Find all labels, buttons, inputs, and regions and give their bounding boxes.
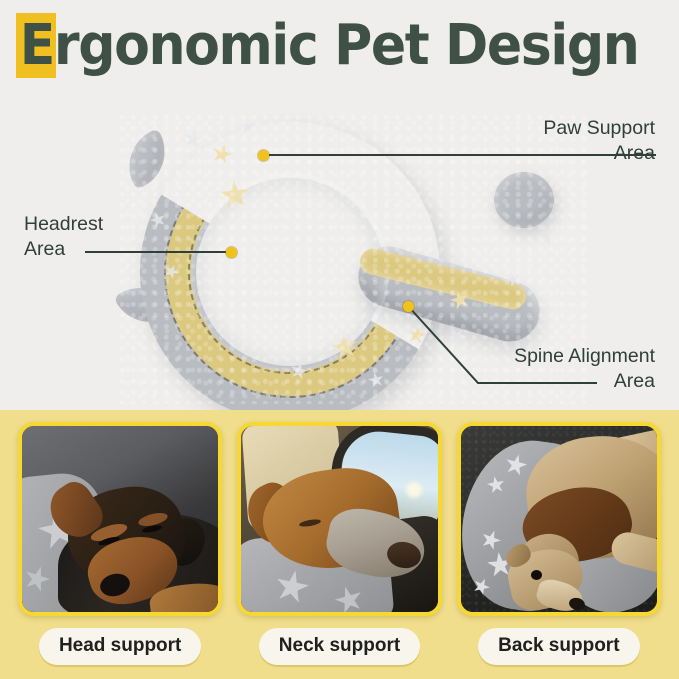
caption-cell-head-support: Head support [18, 626, 222, 666]
callout-paw-support: Paw Support Area [543, 116, 655, 166]
caption-pill-neck-support: Neck support [259, 628, 420, 665]
photo-gallery [18, 422, 661, 616]
callout-spine-alignment: Spine Alignment Area [514, 344, 655, 394]
callout-paw-support-line2: Area [543, 141, 655, 166]
title-highlight-letter: E [16, 13, 56, 78]
photo-card-head-support[interactable] [18, 422, 222, 616]
callout-headrest-line1: Headrest [24, 212, 103, 237]
caption-row: Head support Neck support Back support [18, 626, 661, 666]
infographic-root: Ergonomic Pet Design [0, 0, 679, 679]
photo-card-back-support[interactable] [457, 422, 661, 616]
header-band: Ergonomic Pet Design [0, 0, 679, 92]
pillow-ear-top [116, 128, 178, 190]
caption-cell-back-support: Back support [457, 626, 661, 666]
star-motif [183, 129, 204, 150]
benefits-section: Head support Neck support Back support [0, 410, 679, 679]
callout-headrest: Headrest Area [24, 212, 103, 262]
callout-paw-support-line1: Paw Support [543, 116, 655, 141]
caption-pill-head-support: Head support [39, 628, 201, 665]
hero-section: Paw Support Area Headrest Area Spine Ali… [0, 92, 679, 410]
callout-spine-alignment-line2: Area [514, 369, 655, 394]
callout-headrest-line2: Area [24, 237, 103, 262]
photo-card-neck-support[interactable] [237, 422, 441, 616]
pillow-tail-knob [494, 172, 554, 228]
title-rest: rgonomic Pet Design [54, 13, 639, 78]
photo-neck-support [241, 426, 437, 612]
photo-back-support [461, 426, 657, 612]
star-motif [539, 231, 555, 247]
page-title: Ergonomic Pet Design [16, 16, 638, 76]
caption-cell-neck-support: Neck support [237, 626, 441, 666]
caption-pill-back-support: Back support [478, 628, 639, 665]
photo-head-support [22, 426, 218, 612]
callout-spine-alignment-line1: Spine Alignment [514, 344, 655, 369]
